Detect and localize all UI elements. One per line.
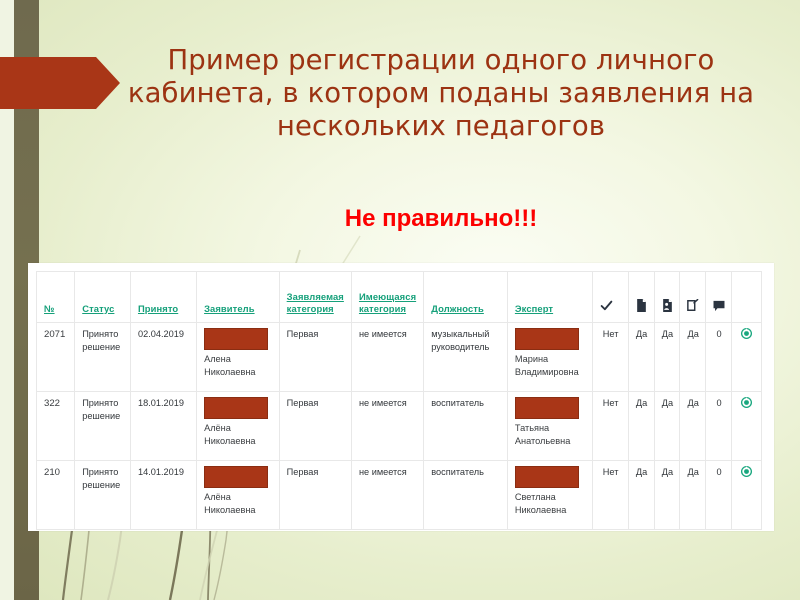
col-header-applicant[interactable]: Заявитель [197,272,280,323]
status-green-icon[interactable] [741,397,752,408]
cell-person-document: Да [662,467,673,477]
col-header-document[interactable] [628,272,654,323]
cell-edit: Да [688,398,699,408]
status-green-icon[interactable] [741,466,752,477]
cell-accepted: 14.01.2019 [138,467,184,477]
status-green-icon[interactable] [741,328,752,339]
cell-comment-count: 0 [716,398,721,408]
expert-redaction-box [515,328,579,350]
table-row[interactable]: 322 Принято решение 18.01.2019 Алёна Ник… [37,392,762,461]
expert-redaction-box [515,466,579,488]
cell-comment-count: 0 [716,329,721,339]
applications-table: № Статус Принято Заявитель Заявляемая ка… [36,271,762,530]
cell-edit: Да [688,467,699,477]
cell-position: воспитатель [431,467,484,477]
cell-document: Да [636,329,647,339]
cell-applicant-name: Алена Николаевна [204,353,273,379]
col-header-claimed-category-label[interactable]: Заявляемая категория [287,291,345,315]
cell-person-document: Да [662,329,673,339]
col-header-edit[interactable] [680,272,706,323]
cell-status: Принято решение [82,398,120,421]
slide-title: Пример регистрации одного личного кабине… [96,44,786,143]
table-header-row: № Статус Принято Заявитель Заявляемая ка… [37,272,762,323]
col-header-expert[interactable]: Эксперт [507,272,592,323]
col-header-check[interactable] [592,272,628,323]
cell-status: Принято решение [82,467,120,490]
edit-square-icon[interactable] [687,299,699,312]
document-icon[interactable] [636,299,647,312]
cell-person-document: Да [662,398,673,408]
cell-check: Нет [603,467,619,477]
cell-num: 322 [44,398,60,409]
col-header-num-label[interactable]: № [44,303,55,315]
col-header-status-label[interactable]: Статус [82,303,114,315]
cell-comment-count: 0 [716,467,721,477]
col-header-position[interactable]: Должность [424,272,508,323]
cell-status: Принято решение [82,329,120,352]
col-header-num[interactable]: № [37,272,75,323]
cell-current-category: не имеется [359,329,407,339]
cell-position: воспитатель [431,398,484,408]
cell-check: Нет [603,329,619,339]
col-header-accepted-label[interactable]: Принято [138,303,178,315]
cell-current-category: не имеется [359,467,407,477]
cell-edit: Да [688,329,699,339]
cell-num: 2071 [44,329,65,340]
col-header-applicant-label[interactable]: Заявитель [204,303,255,315]
applications-table-panel: № Статус Принято Заявитель Заявляемая ка… [28,263,774,531]
cell-accepted: 18.01.2019 [138,398,184,408]
cell-document: Да [636,467,647,477]
applicant-redaction-box [204,466,268,488]
cell-claimed-category: Первая [287,467,319,477]
cell-expert-name: Татьяна Анатольевна [515,422,586,448]
col-header-action [731,272,761,323]
table-body: 2071 Принято решение 02.04.2019 Алена Ни… [37,323,762,530]
cell-check: Нет [603,398,619,408]
cell-accepted: 02.04.2019 [138,329,184,339]
cell-num: 210 [44,467,60,478]
cell-current-category: не имеется [359,398,407,408]
expert-redaction-box [515,397,579,419]
cell-applicant-name: Алёна Николаевна [204,491,273,517]
cell-applicant-name: Алёна Николаевна [204,422,273,448]
cell-expert-name: Светлана Николаевна [515,491,586,517]
cell-claimed-category: Первая [287,329,319,339]
comment-icon[interactable] [713,300,725,312]
col-header-comment[interactable] [706,272,732,323]
applicant-redaction-box [204,397,268,419]
table-row[interactable]: 2071 Принято решение 02.04.2019 Алена Ни… [37,323,762,392]
col-header-current-category-label[interactable]: Имеющаяся категория [359,291,417,315]
cell-expert-name: Марина Владимировна [515,353,586,379]
cell-document: Да [636,398,647,408]
cell-position: музыкальный руководитель [431,329,489,352]
presentation-slide: Пример регистрации одного личного кабине… [0,0,800,600]
col-header-current-category[interactable]: Имеющаяся категория [351,272,423,323]
table-row[interactable]: 210 Принято решение 14.01.2019 Алёна Ник… [37,461,762,530]
col-header-person-document[interactable] [654,272,680,323]
warning-label: Не правильно!!! [96,205,786,233]
col-header-accepted[interactable]: Принято [130,272,196,323]
col-header-claimed-category[interactable]: Заявляемая категория [279,272,351,323]
col-header-expert-label[interactable]: Эксперт [515,303,553,315]
col-header-status[interactable]: Статус [75,272,131,323]
check-icon[interactable] [600,299,613,312]
col-header-position-label[interactable]: Должность [431,303,484,315]
applicant-redaction-box [204,328,268,350]
cell-claimed-category: Первая [287,398,319,408]
person-document-icon[interactable] [662,299,673,312]
